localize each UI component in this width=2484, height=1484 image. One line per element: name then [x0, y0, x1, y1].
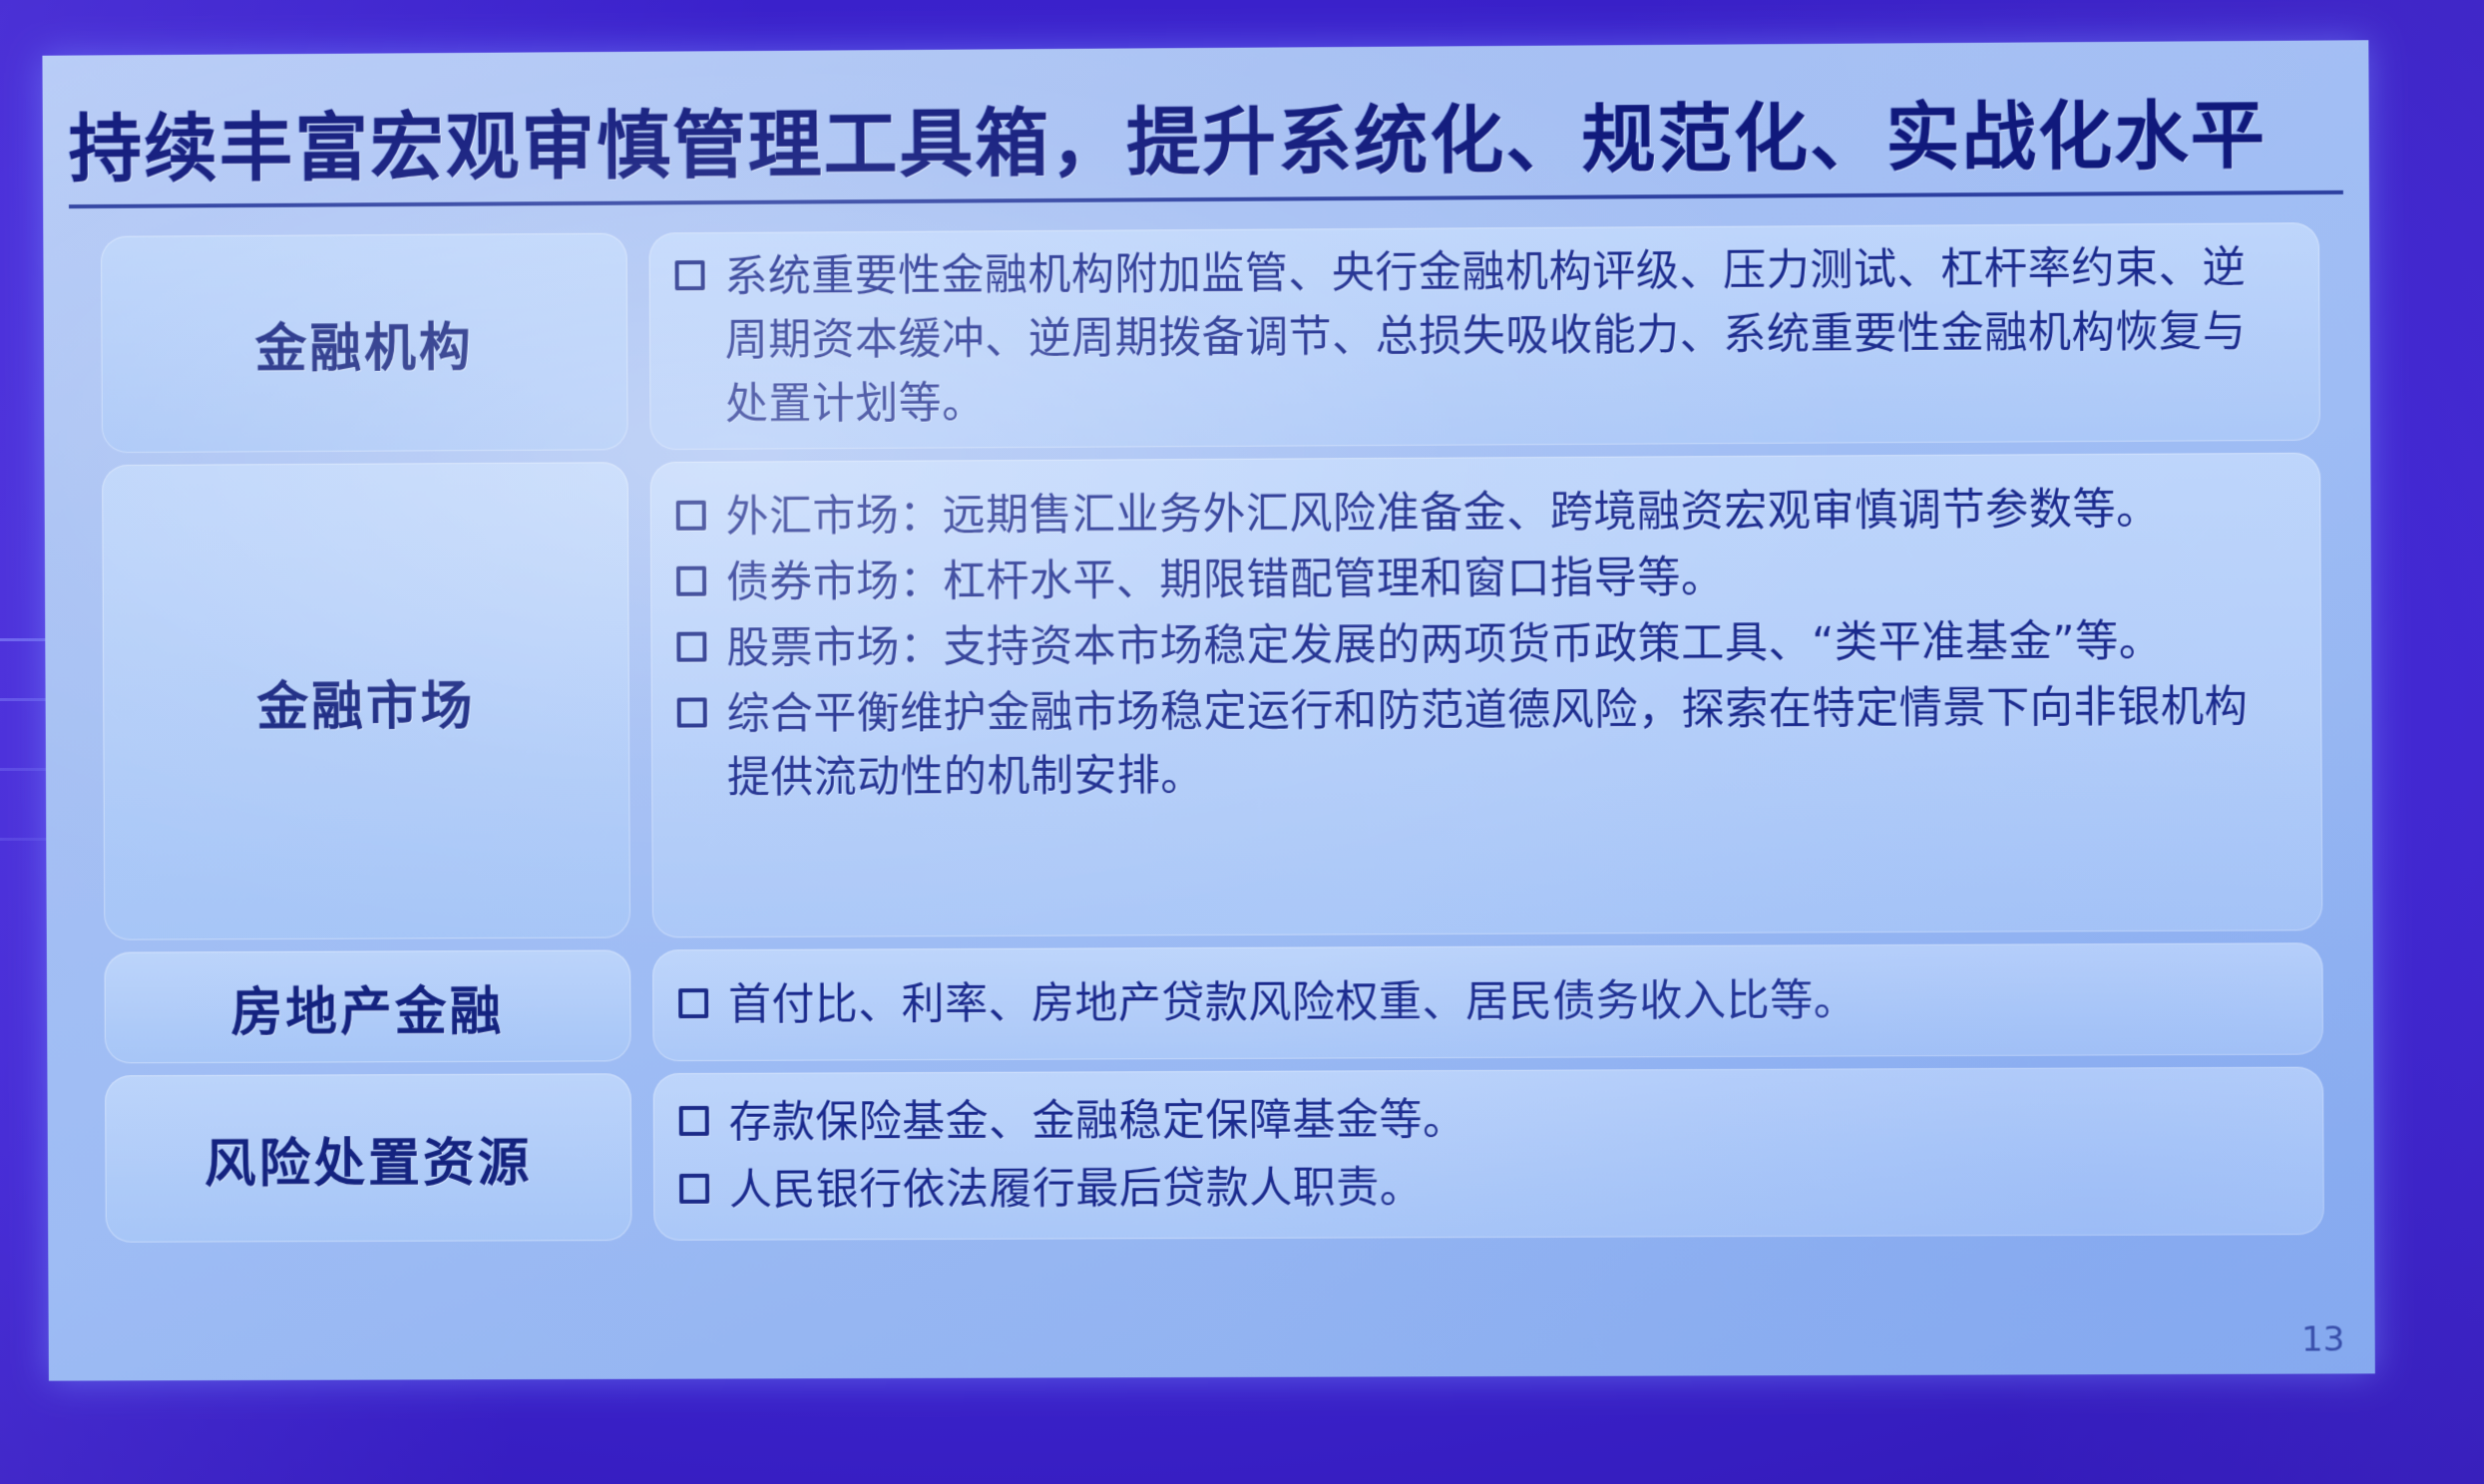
table-row: 风险处置资源 存款保险基金、金融稳定保障基金等。 人民银行依法履行最后贷款人职责… — [105, 1067, 2324, 1243]
checkbox-square-icon — [676, 566, 706, 596]
table-row: 金融机构 系统重要性金融机构附加监管、央行金融机构评级、压力测试、杠杆率约束、逆… — [101, 222, 2320, 453]
content-cell-financial-institutions: 系统重要性金融机构附加监管、央行金融机构评级、压力测试、杠杆率约束、逆周期资本缓… — [648, 222, 2319, 450]
category-label-financial-institutions: 金融机构 — [101, 233, 628, 454]
content-cell-risk-resolution-resources: 存款保险基金、金融稳定保障基金等。 人民银行依法履行最后贷款人职责。 — [653, 1067, 2324, 1241]
category-label-text: 金融机构 — [254, 305, 473, 381]
list-item-text: 首付比、利率、房地产贷款风险权重、居民债务收入比等。 — [728, 968, 1858, 1037]
list-item: 债券市场：杠杆水平、期限错配管理和窗口指导等。 — [676, 543, 2281, 614]
category-label-financial-markets: 金融市场 — [102, 462, 630, 940]
page-number: 13 — [2301, 1319, 2345, 1359]
table-row: 房地产金融 首付比、利率、房地产贷款风险权重、居民债务收入比等。 — [104, 942, 2323, 1063]
list-item: 首付比、利率、房地产贷款风险权重、居民债务收入比等。 — [678, 966, 2283, 1037]
slide-title-band: 持续丰富宏观审慎管理工具箱，提升系统化、规范化、实战化水平 — [68, 66, 2342, 208]
list-item-text: 系统重要性金融机构附加监管、央行金融机构评级、压力测试、杠杆率约束、逆周期资本缓… — [724, 235, 2279, 436]
checkbox-square-icon — [677, 697, 707, 727]
list-item: 外汇市场：远期售汇业务外汇风险准备金、跨境融资宏观审慎调节参数等。 — [676, 477, 2281, 550]
table-row: 金融市场 外汇市场：远期售汇业务外汇风险准备金、跨境融资宏观审慎调节参数等。 债… — [102, 453, 2322, 940]
presentation-slide: 持续丰富宏观审慎管理工具箱，提升系统化、规范化、实战化水平 金融机构 系统重要性… — [42, 40, 2374, 1380]
content-grid: 金融机构 系统重要性金融机构附加监管、央行金融机构评级、压力测试、杠杆率约束、逆… — [101, 222, 2324, 1356]
list-item-text: 综合平衡维护金融市场稳定运行和防范道德风险，探索在特定情景下向非银机构提供流动性… — [726, 675, 2281, 811]
content-cell-real-estate-finance: 首付比、利率、房地产贷款风险权重、居民债务收入比等。 — [652, 942, 2323, 1061]
list-item: 存款保险基金、金融稳定保障基金等。 — [679, 1085, 2284, 1155]
page-title: 持续丰富宏观审慎管理工具箱，提升系统化、规范化、实战化水平 — [68, 76, 2267, 196]
list-item: 综合平衡维护金融市场稳定运行和防范道德风险，探索在特定情景下向非银机构提供流动性… — [677, 675, 2282, 811]
checkbox-square-icon — [678, 988, 708, 1018]
list-item-text: 外汇市场：远期售汇业务外汇风险准备金、跨境融资宏观审慎调节参数等。 — [726, 478, 2161, 550]
category-label-text: 房地产金融 — [230, 968, 504, 1044]
checkbox-square-icon — [679, 1174, 709, 1204]
content-cell-financial-markets: 外汇市场：远期售汇业务外汇风险准备金、跨境融资宏观审慎调节参数等。 债券市场：杠… — [650, 453, 2323, 938]
checkbox-square-icon — [675, 260, 705, 290]
checkbox-square-icon — [676, 501, 706, 531]
checkbox-square-icon — [679, 1106, 709, 1136]
category-label-text: 风险处置资源 — [205, 1120, 533, 1196]
category-label-text: 金融市场 — [256, 663, 475, 739]
list-item: 人民银行依法履行最后贷款人职责。 — [679, 1153, 2284, 1223]
category-label-real-estate-finance: 房地产金融 — [104, 949, 630, 1063]
category-label-risk-resolution-resources: 风险处置资源 — [105, 1073, 631, 1243]
list-item: 系统重要性金融机构附加监管、央行金融机构评级、压力测试、杠杆率约束、逆周期资本缓… — [674, 235, 2279, 437]
list-item: 股票市场：支持资本市场稳定发展的两项货币政策工具、“类平准基金”等。 — [676, 608, 2281, 680]
list-item-text: 存款保险基金、金融稳定保障基金等。 — [728, 1088, 1465, 1155]
list-item-text: 股票市场：支持资本市场稳定发展的两项货币政策工具、“类平准基金”等。 — [726, 609, 2163, 680]
checkbox-square-icon — [676, 632, 706, 662]
list-item-text: 债券市场：杠杆水平、期限错配管理和窗口指导等。 — [726, 546, 1725, 614]
list-item-text: 人民银行依法履行最后贷款人职责。 — [729, 1156, 1424, 1222]
